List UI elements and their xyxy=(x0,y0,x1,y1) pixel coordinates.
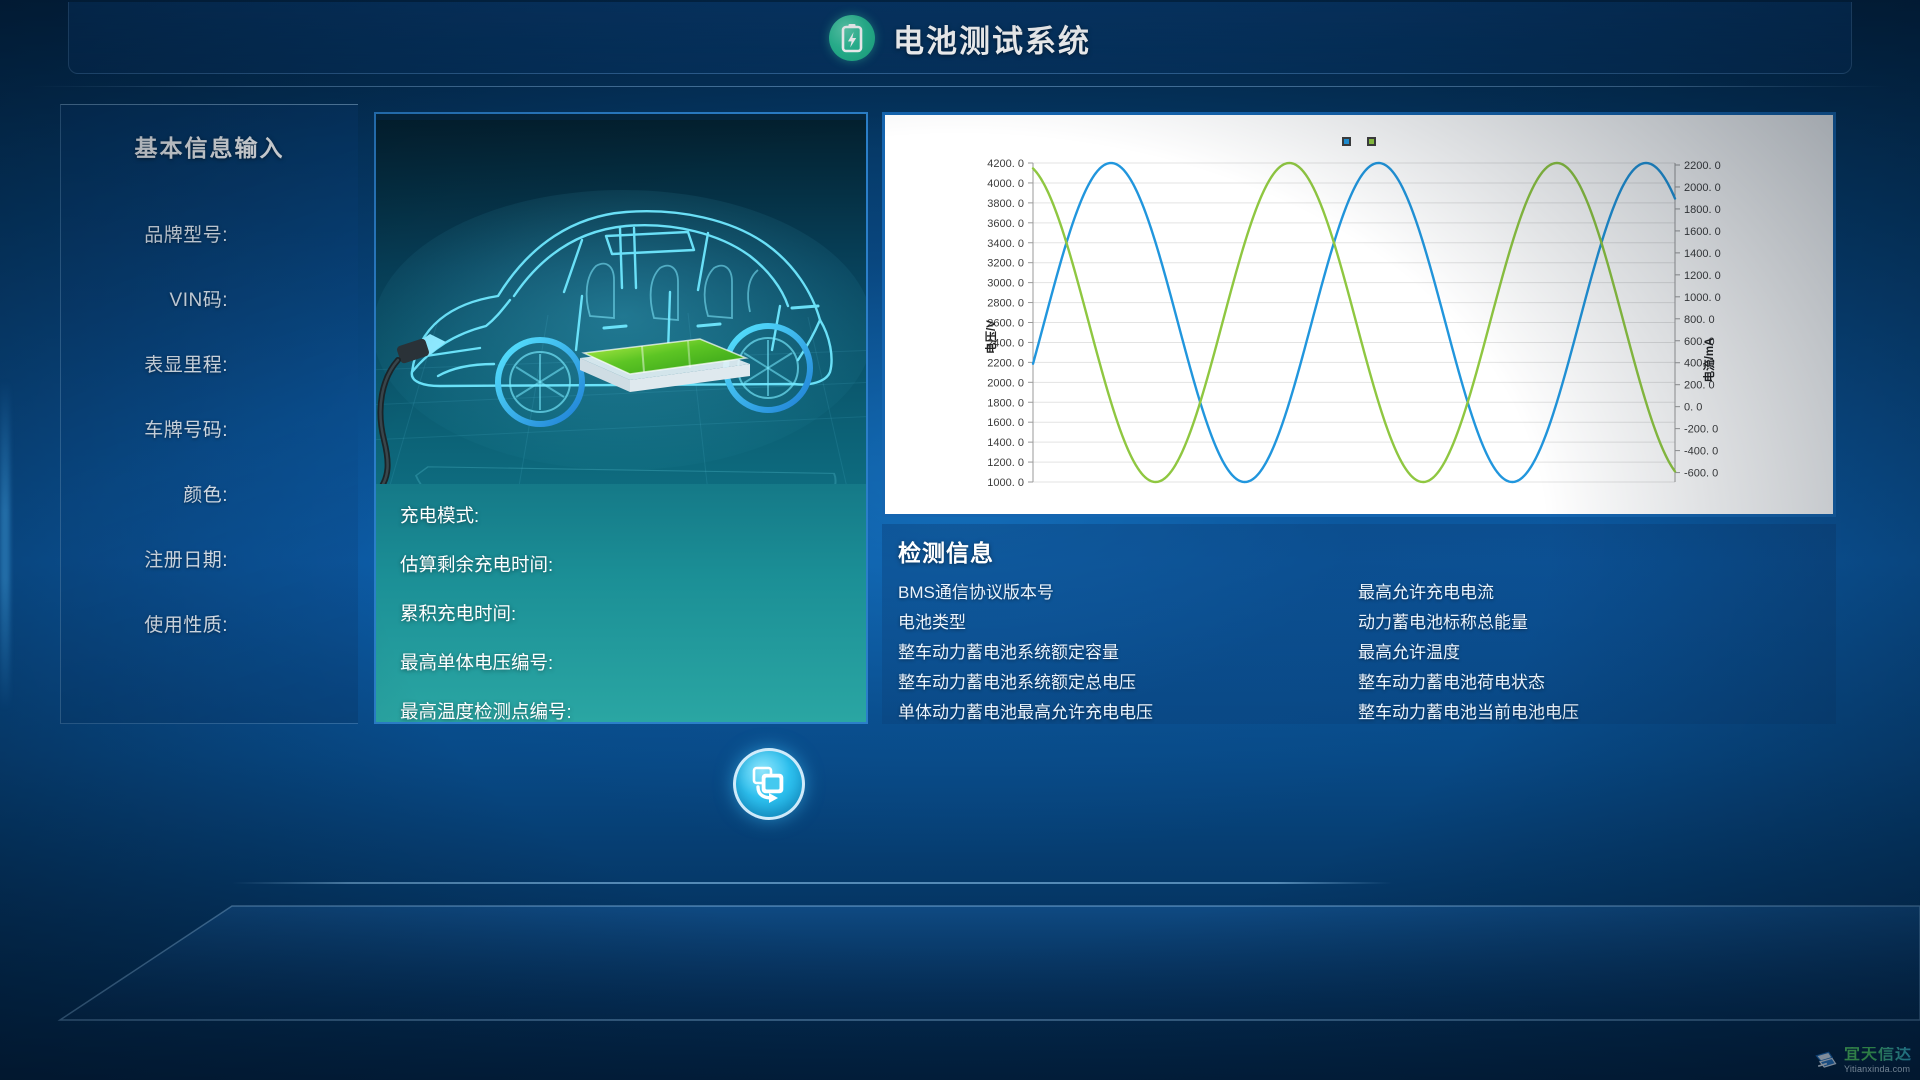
svg-text:-200. 0: -200. 0 xyxy=(1684,424,1718,436)
detection-item[interactable]: BMS通信协议版本号 xyxy=(898,578,1358,608)
svg-text:800. 0: 800. 0 xyxy=(1684,314,1715,326)
cumulative-charge-time-label: 累积充电时间: xyxy=(400,600,840,626)
max-temp-probe-number-label: 最高温度检测点编号: xyxy=(400,698,840,724)
svg-text:1800. 0: 1800. 0 xyxy=(987,397,1024,409)
charging-status-list: 充电模式: 估算剩余充电时间: 累积充电时间: 最高单体电压编号: 最高温度检测… xyxy=(400,502,840,724)
switch-view-button[interactable] xyxy=(733,748,805,820)
svg-text:电压/V: 电压/V xyxy=(984,320,998,354)
watermark: 宜天信达 Yitianxinda.com xyxy=(1813,1047,1912,1074)
field-row-plate-number[interactable]: 车牌号码: xyxy=(61,396,358,461)
svg-text:-600. 0: -600. 0 xyxy=(1684,468,1718,480)
svg-text:3200. 0: 3200. 0 xyxy=(987,258,1024,270)
field-row-color[interactable]: 颜色: xyxy=(61,461,358,526)
basic-info-field-list: 品牌型号: VIN码: 表显里程: 车牌号码: 颜色: 注册日期: 使用性质: xyxy=(61,201,358,656)
svg-text:1200. 0: 1200. 0 xyxy=(987,457,1024,469)
svg-text:电流/mA: 电流/mA xyxy=(1702,338,1716,383)
battery-icon xyxy=(829,15,875,61)
svg-text:3400. 0: 3400. 0 xyxy=(987,238,1024,250)
svg-text:1600. 0: 1600. 0 xyxy=(1684,226,1721,238)
switch-view-icon xyxy=(749,764,789,804)
field-row-usage-type[interactable]: 使用性质: xyxy=(61,591,358,656)
svg-text:0. 0: 0. 0 xyxy=(1684,402,1702,414)
basic-info-panel: 基本信息输入 品牌型号: VIN码: 表显里程: 车牌号码: 颜色: 注册日期:… xyxy=(60,104,358,724)
field-row-brand-model[interactable]: 品牌型号: xyxy=(61,201,358,266)
detection-item[interactable]: 整车动力蓄电池系统额定容量 xyxy=(898,638,1358,668)
vehicle-charging-panel: 充电模式: 估算剩余充电时间: 累积充电时间: 最高单体电压编号: 最高温度检测… xyxy=(374,112,868,724)
svg-text:-400. 0: -400. 0 xyxy=(1684,446,1718,458)
svg-text:1000. 0: 1000. 0 xyxy=(1684,292,1721,304)
svg-text:1400. 0: 1400. 0 xyxy=(1684,248,1721,260)
detection-item[interactable]: 电池类型 xyxy=(898,608,1358,638)
svg-text:2800. 0: 2800. 0 xyxy=(987,298,1024,310)
detection-item[interactable]: 最高允许充电电流 xyxy=(1358,578,1818,608)
chart-plot-area: 4200. 04000. 03800. 03600. 03400. 03200.… xyxy=(885,115,1833,514)
detection-item[interactable]: 动力蓄电池标称总能量 xyxy=(1358,608,1818,638)
field-label: 使用性质: xyxy=(144,610,228,637)
watermark-cn: 宜天信达 xyxy=(1844,1047,1912,1063)
watermark-logo-icon xyxy=(1813,1048,1839,1074)
estimated-remaining-time-label: 估算剩余充电时间: xyxy=(400,551,840,577)
svg-text:3800. 0: 3800. 0 xyxy=(987,198,1024,210)
header-divider xyxy=(30,86,1890,87)
detection-info-panel: 检测信息 BMS通信协议版本号 电池类型 整车动力蓄电池系统额定容量 整车动力蓄… xyxy=(882,524,1836,724)
field-row-vin[interactable]: VIN码: xyxy=(61,266,358,331)
vehicle-illustration xyxy=(376,114,866,484)
watermark-en: Yitianxinda.com xyxy=(1844,1065,1912,1074)
field-label: 注册日期: xyxy=(144,545,228,572)
background-light-beam xyxy=(0,380,10,710)
detection-item[interactable]: 整车动力蓄电池系统额定总电压 xyxy=(898,668,1358,698)
svg-text:3600. 0: 3600. 0 xyxy=(987,218,1024,230)
svg-text:4000. 0: 4000. 0 xyxy=(987,178,1024,190)
svg-text:3000. 0: 3000. 0 xyxy=(987,278,1024,290)
svg-text:1600. 0: 1600. 0 xyxy=(987,417,1024,429)
detection-item[interactable]: 整车动力蓄电池荷电状态 xyxy=(1358,668,1818,698)
detection-info-title: 检测信息 xyxy=(898,534,994,568)
field-label: 颜色: xyxy=(183,480,228,507)
detection-info-columns: BMS通信协议版本号 电池类型 整车动力蓄电池系统额定容量 整车动力蓄电池系统额… xyxy=(898,578,1818,728)
field-row-mileage[interactable]: 表显里程: xyxy=(61,331,358,396)
detection-item[interactable]: 整车动力蓄电池当前电池电压 xyxy=(1358,698,1818,728)
voltage-current-chart-panel: 4200. 04000. 03800. 03600. 03400. 03200.… xyxy=(882,112,1836,517)
page-title: 电池测试系统 xyxy=(893,16,1091,61)
detection-info-right-column: 最高允许充电电流 动力蓄电池标称总能量 最高允许温度 整车动力蓄电池荷电状态 整… xyxy=(1358,578,1818,728)
sidebar-title: 基本信息输入 xyxy=(61,129,358,163)
field-row-register-date[interactable]: 注册日期: xyxy=(61,526,358,591)
bottom-platform xyxy=(0,850,1920,1080)
detection-item[interactable]: 最高允许温度 xyxy=(1358,638,1818,668)
field-label: VIN码: xyxy=(170,285,228,312)
detection-item[interactable]: 单体动力蓄电池最高允许充电电压 xyxy=(898,698,1358,728)
svg-text:1800. 0: 1800. 0 xyxy=(1684,204,1721,216)
svg-text:1000. 0: 1000. 0 xyxy=(987,477,1024,489)
header: 电池测试系统 xyxy=(0,8,1920,68)
field-label: 表显里程: xyxy=(144,350,228,377)
svg-text:4200. 0: 4200. 0 xyxy=(987,158,1024,170)
charge-mode-label: 充电模式: xyxy=(400,502,840,528)
svg-text:2200. 0: 2200. 0 xyxy=(1684,160,1721,172)
field-label: 品牌型号: xyxy=(144,220,228,247)
svg-text:2200. 0: 2200. 0 xyxy=(987,357,1024,369)
max-cell-voltage-number-label: 最高单体电压编号: xyxy=(400,649,840,675)
svg-text:1400. 0: 1400. 0 xyxy=(987,437,1024,449)
detection-info-left-column: BMS通信协议版本号 电池类型 整车动力蓄电池系统额定容量 整车动力蓄电池系统额… xyxy=(898,578,1358,728)
svg-text:2000. 0: 2000. 0 xyxy=(1684,182,1721,194)
svg-text:2000. 0: 2000. 0 xyxy=(987,377,1024,389)
field-label: 车牌号码: xyxy=(144,415,228,442)
svg-text:1200. 0: 1200. 0 xyxy=(1684,270,1721,282)
